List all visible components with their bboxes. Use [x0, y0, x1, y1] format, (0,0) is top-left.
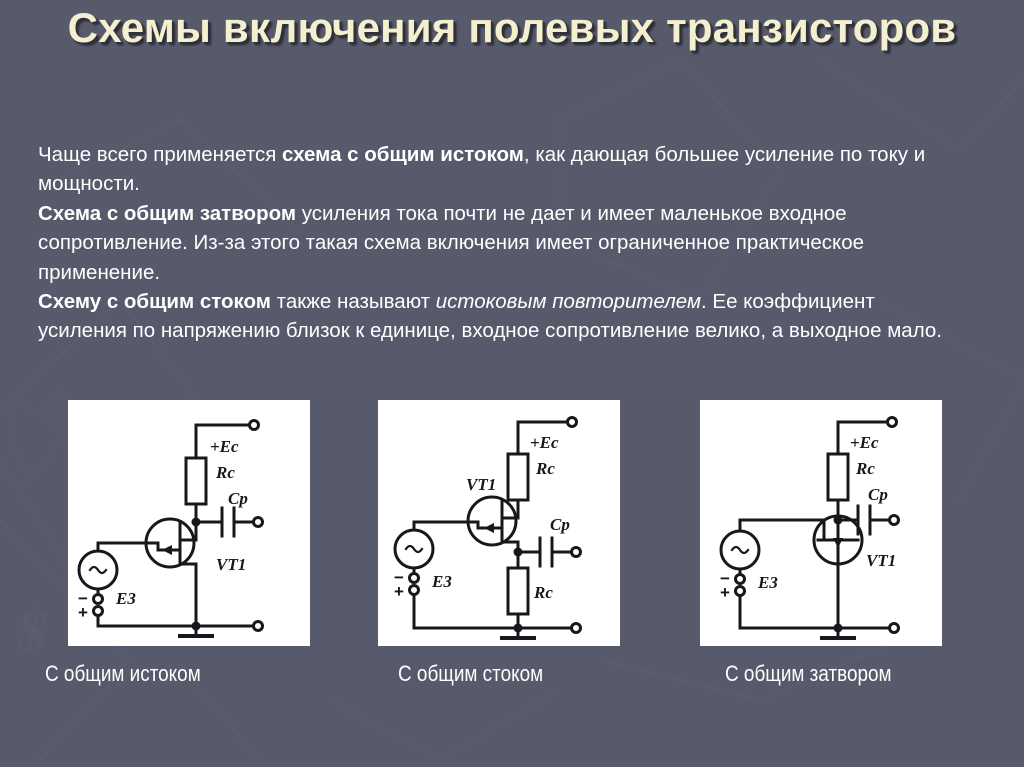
- terminal-minus: [94, 595, 103, 604]
- terminal-common: [890, 624, 899, 633]
- paragraph-1: Чаще всего применяется схема с общим ист…: [38, 140, 968, 199]
- caption-common-source: С общим истоком: [45, 660, 201, 688]
- terminal-plus: [410, 586, 419, 595]
- label-capacitor: Cp: [228, 489, 248, 508]
- junction-dot: [834, 624, 843, 633]
- label-supply: +Ec: [210, 437, 239, 456]
- circuit-diagram-common-drain: +Ec Rc Cp Rc VT1 E3 − +: [378, 400, 620, 646]
- page-title: Схемы включения полевых транзисторов: [0, 2, 1024, 54]
- label-plus: +: [394, 582, 404, 601]
- label-capacitor: Cp: [550, 515, 570, 534]
- circuit-panel-common-source: +Ec Rc Cp VT1 E3 − +: [68, 400, 310, 646]
- p3-bold: Схему с общим стоком: [38, 290, 271, 313]
- junction-dot: [514, 624, 523, 633]
- circuit-panel-common-gate: +Ec Rc Cp VT1 E3 − +: [700, 400, 942, 646]
- junction-dot: [192, 622, 201, 631]
- label-transistor: VT1: [466, 475, 496, 494]
- label-supply: +Ec: [850, 433, 879, 452]
- slide: $ Схемы включения полевых транзисторов Ч…: [0, 0, 1024, 767]
- terminal-plus: [736, 587, 745, 596]
- terminal-minus: [410, 574, 419, 583]
- paragraph-3: Схему с общим стоком также называют исто…: [38, 287, 968, 346]
- label-source: E3: [431, 572, 452, 591]
- p2-bold: Схема с общим затвором: [38, 202, 296, 225]
- terminal-supply: [250, 421, 259, 430]
- circuit-panel-common-drain: +Ec Rc Cp Rc VT1 E3 − +: [378, 400, 620, 646]
- label-transistor: VT1: [866, 551, 896, 570]
- circuit-diagram-common-source: +Ec Rc Cp VT1 E3 − +: [68, 400, 310, 646]
- gate-arrow-icon: [162, 545, 172, 555]
- terminal-common: [572, 624, 581, 633]
- label-resistor-drain: Rc: [535, 459, 555, 478]
- terminal-supply: [568, 418, 577, 427]
- junction-dot: [192, 518, 201, 527]
- gate-arrow-icon: [484, 523, 494, 533]
- label-resistor-drain: Rc: [215, 463, 235, 482]
- body-text: Чаще всего применяется схема с общим ист…: [38, 140, 968, 346]
- paragraph-2: Схема с общим затвором усиления тока поч…: [38, 199, 968, 287]
- circuit-captions: С общим истоком С общим стоком С общим з…: [0, 660, 1024, 700]
- junction-dot: [834, 516, 843, 525]
- gate-arrow-icon: [833, 538, 843, 548]
- terminal-supply: [888, 418, 897, 427]
- label-resistor-drain: Rc: [855, 459, 875, 478]
- p1-part-a: Чаще всего применяется: [38, 143, 282, 166]
- label-source: E3: [757, 573, 778, 592]
- label-source: E3: [115, 589, 136, 608]
- circuit-panels: +Ec Rc Cp VT1 E3 − +: [0, 400, 1024, 646]
- caption-common-gate: С общим затвором: [725, 660, 892, 688]
- terminal-output: [254, 518, 263, 527]
- terminal-output: [890, 516, 899, 525]
- label-resistor-source: Rc: [533, 583, 553, 602]
- label-transistor: VT1: [216, 555, 246, 574]
- terminal-common: [254, 622, 263, 631]
- background-decoration: $: [0, 0, 1024, 767]
- p1-bold: схема с общим истоком: [282, 143, 524, 166]
- terminal-plus: [94, 607, 103, 616]
- junction-dot: [514, 548, 523, 557]
- terminal-minus: [736, 575, 745, 584]
- label-plus: +: [78, 603, 88, 622]
- label-supply: +Ec: [530, 433, 559, 452]
- p3-italic: истоковым повторителем: [436, 290, 701, 313]
- label-capacitor: Cp: [868, 485, 888, 504]
- terminal-output: [572, 548, 581, 557]
- p3-part-b: также называют: [271, 290, 436, 313]
- label-plus: +: [720, 583, 730, 602]
- caption-common-drain: С общим стоком: [398, 660, 543, 688]
- circuit-diagram-common-gate: +Ec Rc Cp VT1 E3 − +: [700, 400, 942, 646]
